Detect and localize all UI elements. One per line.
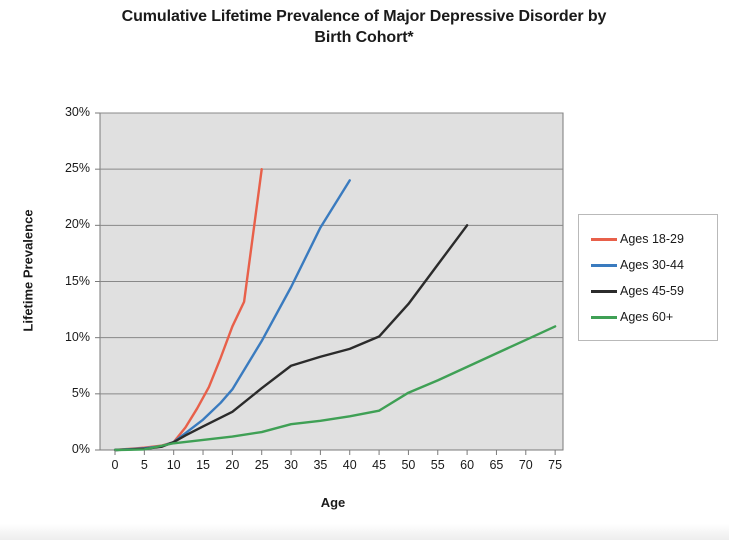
legend-line-swatch — [591, 264, 617, 267]
legend-item[interactable]: Ages 45-59 — [579, 278, 717, 304]
legend-line-swatch — [591, 290, 617, 293]
x-axis-title: Age — [233, 495, 433, 510]
bottom-band — [0, 524, 729, 540]
legend-item[interactable]: Ages 30-44 — [579, 252, 717, 278]
legend-line-swatch — [591, 238, 617, 241]
y-axis-tick-label: 25% — [46, 161, 90, 175]
y-axis-tick-label: 15% — [46, 274, 90, 288]
y-axis-title: Lifetime Prevalence — [21, 191, 36, 351]
legend-item[interactable]: Ages 60+ — [579, 304, 717, 330]
y-axis-tick-label: 10% — [46, 330, 90, 344]
legend-item-label: Ages 30-44 — [620, 258, 684, 272]
y-axis-tick-label: 0% — [46, 442, 90, 456]
legend-item-label: Ages 60+ — [620, 310, 673, 324]
legend-line-swatch — [591, 316, 617, 319]
y-axis-tick-label: 30% — [46, 105, 90, 119]
legend-item[interactable]: Ages 18-29 — [579, 226, 717, 252]
chart-figure: Cumulative Lifetime Prevalence of Major … — [0, 0, 729, 540]
legend-item-label: Ages 45-59 — [620, 284, 684, 298]
legend: Ages 18-29Ages 30-44Ages 45-59Ages 60+ — [578, 214, 718, 341]
y-axis-tick-label: 20% — [46, 217, 90, 231]
x-axis-tick-label: 75 — [535, 458, 575, 472]
y-axis-tick-label: 5% — [46, 386, 90, 400]
legend-item-label: Ages 18-29 — [620, 232, 684, 246]
